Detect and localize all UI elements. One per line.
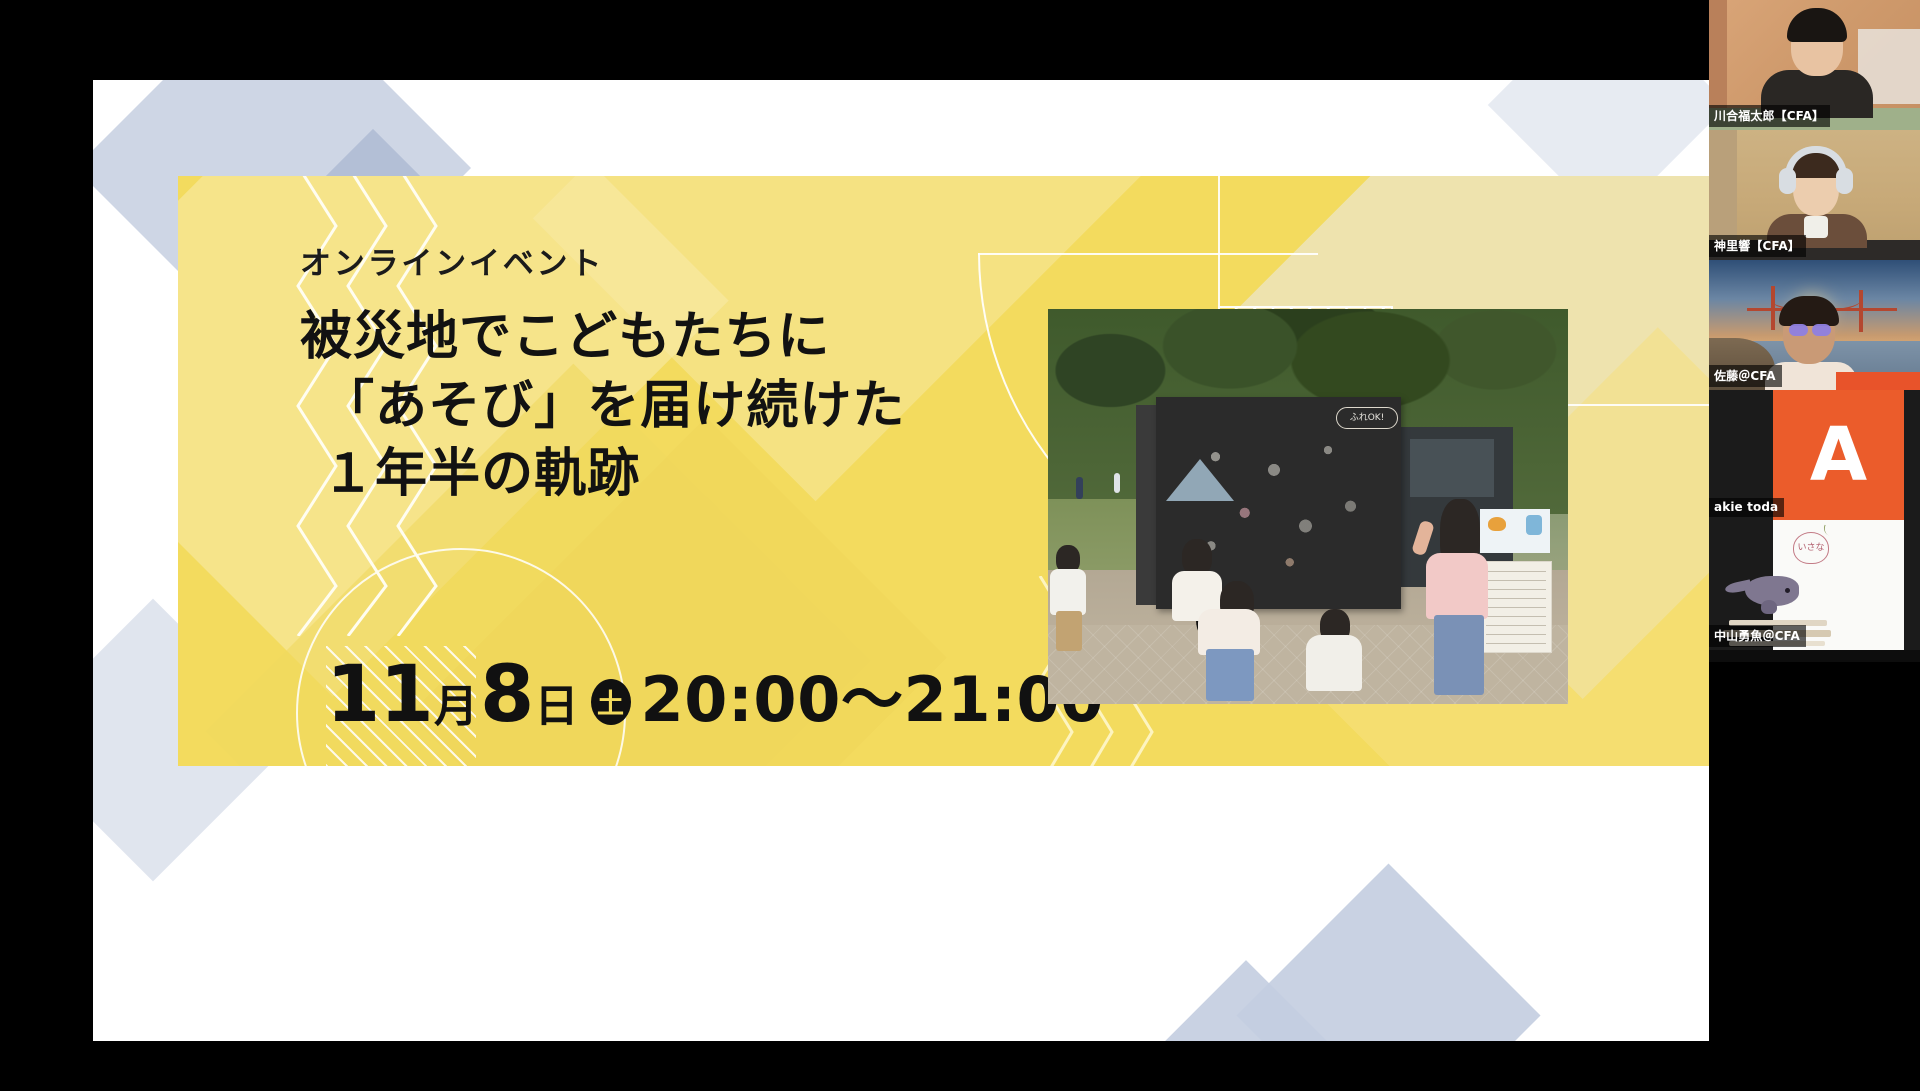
event-day-unit: 日: [535, 685, 579, 729]
participant-tile-1[interactable]: 神里響【CFA】: [1709, 130, 1920, 260]
whale-eye: [1785, 588, 1790, 593]
event-weekday-badge: 土: [591, 679, 631, 725]
event-photo: ふれOK!: [1048, 309, 1568, 704]
event-date-row: 11 月 8 日 土 20:00〜21:00: [326, 656, 1104, 734]
photo-distant-person-2: [1114, 473, 1120, 493]
participant-collar: [1804, 216, 1828, 238]
photo-truck-window: [1410, 439, 1494, 497]
whale-fin: [1761, 600, 1777, 614]
headphone-left-cup: [1779, 168, 1796, 194]
participant-tile-4[interactable]: いさな 中山勇魚＠CFA: [1709, 520, 1920, 650]
photo-distant-person-1: [1076, 477, 1083, 499]
apple-speech-bubble: いさな: [1793, 532, 1829, 564]
event-time-range: 20:00〜21:00: [641, 669, 1105, 731]
meeting-screen: オンラインイベント 被災地でこどもたちに 「あそび」を届け続けた １年半の軌跡 …: [0, 0, 1920, 1091]
participant-name-label: 川合福太郎【CFA】: [1709, 105, 1830, 127]
event-month-number: 11: [326, 656, 433, 734]
photo-sign-text-lines: [1486, 571, 1546, 645]
decor-orange-bar: [1836, 372, 1920, 390]
participant-name-label: 佐藤＠CFA: [1709, 365, 1782, 387]
participant-tile-3[interactable]: A akie toda: [1709, 390, 1920, 520]
strip-background-filler: [1709, 662, 1920, 1091]
decor-diamond-bottom-right: [1236, 863, 1540, 1041]
headphone-right-cup: [1836, 168, 1853, 194]
participant-name-label: akie toda: [1709, 498, 1784, 517]
participant-name-label: 中山勇魚＠CFA: [1709, 625, 1806, 647]
photo-chalk-bubble: ふれOK!: [1336, 407, 1398, 429]
poster-headline: 被災地でこどもたちに 「あそび」を届け続けた １年半の軌跡: [300, 303, 905, 509]
photo-blue-drawing: [1526, 515, 1542, 535]
shared-screen-presentation[interactable]: オンラインイベント 被災地でこどもたちに 「あそび」を届け続けた １年半の軌跡 …: [93, 80, 1815, 1041]
poster-kicker: オンラインイベント: [300, 238, 905, 283]
headline-line-2: 「あそび」を届け続けた: [300, 372, 905, 441]
participant-video-strip[interactable]: 川合福太郎【CFA】 神里響【CFA】: [1709, 0, 1920, 662]
glasses-left-lens: [1789, 324, 1808, 336]
participant-tile-2[interactable]: 佐藤＠CFA: [1709, 260, 1920, 390]
decor-line-vertical-top: [1218, 176, 1220, 306]
golden-gate-bridge-tower-right: [1859, 290, 1863, 332]
event-poster-card: オンラインイベント 被災地でこどもたちに 「あそび」を届け続けた １年半の軌跡 …: [178, 176, 1728, 766]
headline-line-1: 被災地でこどもたちに: [300, 303, 905, 372]
participant-avatar: A: [1773, 390, 1904, 520]
headline-line-3: １年半の軌跡: [300, 440, 905, 509]
event-month-unit: 月: [434, 685, 478, 729]
participant-name-label: 神里響【CFA】: [1709, 235, 1806, 257]
golden-gate-bridge-tower-left: [1771, 286, 1775, 330]
event-day-number: 8: [480, 656, 534, 734]
decor-arc-top-line: [978, 253, 1318, 255]
poster-text-block: オンラインイベント 被災地でこどもたちに 「あそび」を届け続けた １年半の軌跡: [300, 238, 905, 509]
glasses-right-lens: [1812, 324, 1831, 336]
participant-tile-0[interactable]: 川合福太郎【CFA】: [1709, 0, 1920, 130]
photo-duck-drawing: [1488, 517, 1506, 531]
